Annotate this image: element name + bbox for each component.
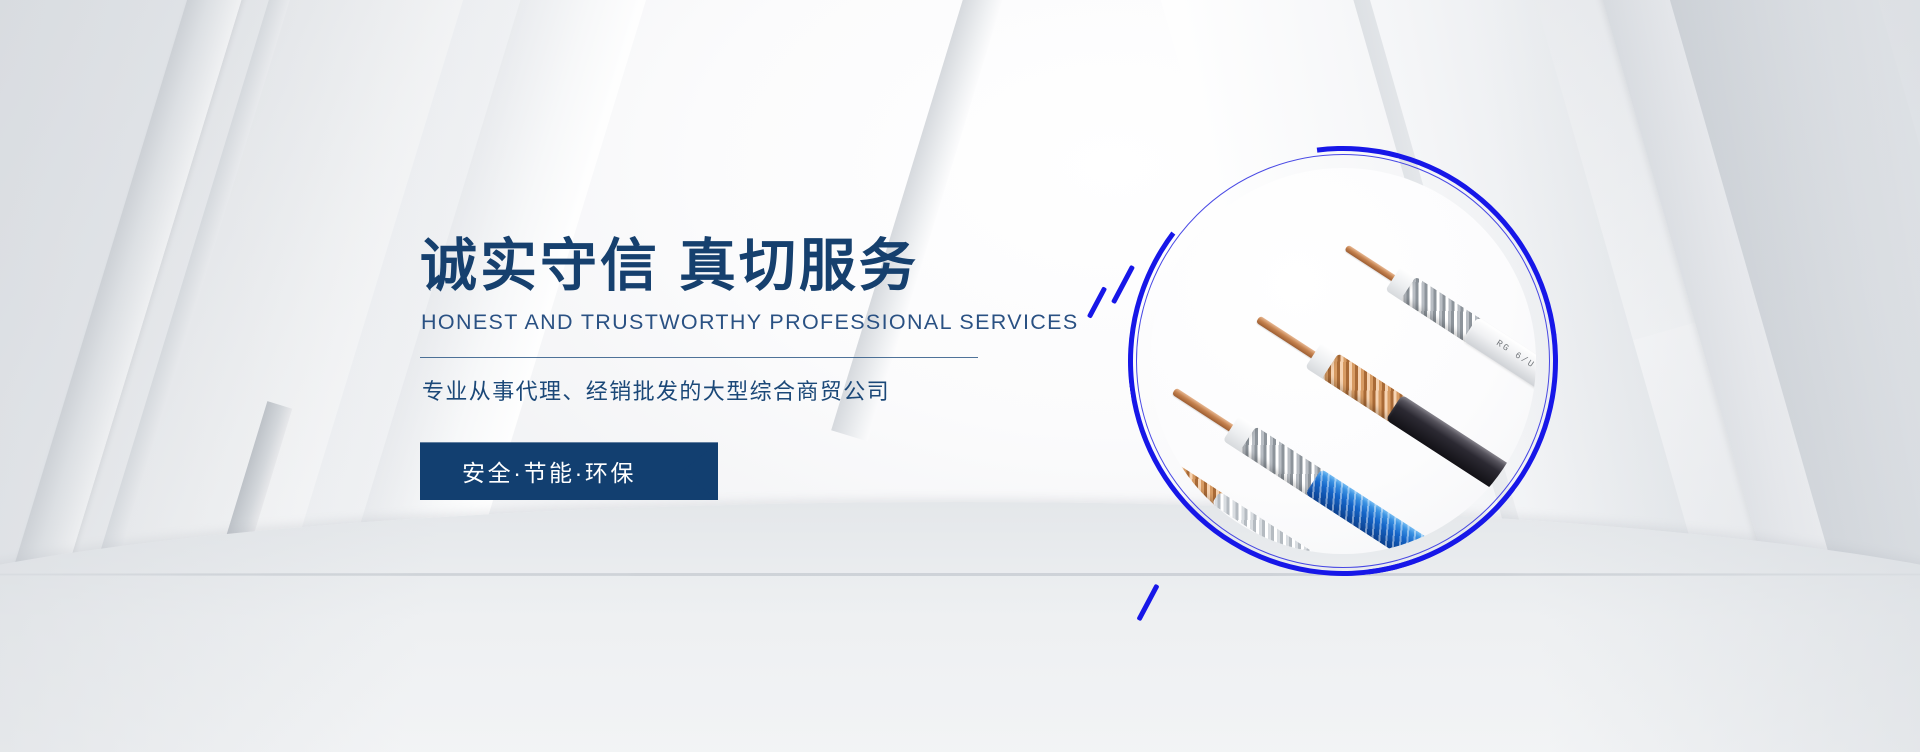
page-title: 诚实守信 真切服务 bbox=[420, 236, 1040, 296]
hero-banner: RG 6/U 75Ω 诚实守信 真切服务 HONEST AND TRUSTWOR… bbox=[0, 0, 1920, 752]
description-text: 专业从事代理、经销批发的大型综合商贸公司 bbox=[422, 374, 1040, 406]
divider bbox=[420, 357, 978, 358]
subtitle-english: HONEST AND TRUSTWORTHY PROFESSIONAL SERV… bbox=[421, 310, 1040, 335]
product-emblem: RG 6/U 75Ω bbox=[1128, 146, 1558, 576]
feature-ribbon-badge: 安全·节能·环保 bbox=[420, 442, 718, 500]
ribbon-label: 安全·节能·环保 bbox=[462, 454, 636, 488]
hero-text-block: 诚实守信 真切服务 HONEST AND TRUSTWORTHY PROFESS… bbox=[420, 236, 1040, 500]
